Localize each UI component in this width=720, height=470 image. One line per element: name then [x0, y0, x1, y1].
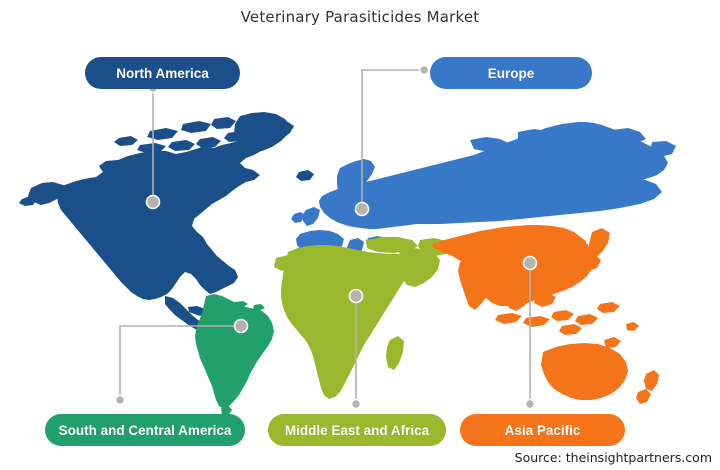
region-label-north-america[interactable]: North America	[85, 57, 240, 89]
map-infographic: Veterinary Parasiticides Market	[0, 0, 720, 470]
region-label-south-and-central-america[interactable]: South and Central America	[45, 414, 245, 446]
region-label-middle-east-and-africa[interactable]: Middle East and Africa	[268, 414, 446, 446]
leader-dot-north-america-map	[147, 196, 160, 209]
region-asia-pacific[interactable]	[432, 225, 659, 404]
leader-dot-south-america-label	[116, 396, 125, 405]
leader-dot-asia-pacific-label	[526, 400, 535, 409]
region-label-europe[interactable]: Europe	[430, 57, 592, 89]
leader-dot-europe-map	[356, 203, 369, 216]
region-label-asia-pacific[interactable]: Asia Pacific	[460, 414, 625, 446]
leader-dot-europe-label	[420, 66, 429, 75]
region-mea[interactable]	[274, 237, 452, 399]
region-south-america[interactable]	[195, 294, 274, 416]
leader-dot-mea-map	[350, 290, 363, 303]
region-north-america[interactable]	[19, 112, 314, 333]
leader-dot-asia-pacific-map	[524, 257, 537, 270]
source-attribution: Source: theinsightpartners.com	[515, 450, 712, 465]
leader-dot-south-america-map	[235, 320, 248, 333]
leader-dot-mea-label	[352, 400, 361, 409]
